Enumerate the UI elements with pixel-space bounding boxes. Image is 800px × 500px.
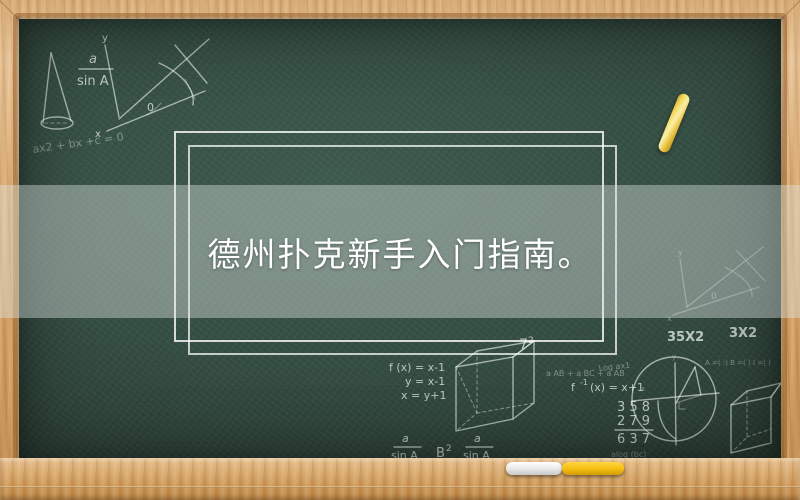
white-chalk-piece-icon <box>506 462 562 475</box>
page-title: 德州扑克新手入门指南。 <box>0 185 800 318</box>
chalkboard-banner: a sin A y x 0 ax2 + bx +c = 0 <box>0 0 800 500</box>
chalk-ledge <box>0 458 800 500</box>
ledge-lip <box>0 486 800 488</box>
yellow-chalk-piece-icon <box>562 462 624 475</box>
